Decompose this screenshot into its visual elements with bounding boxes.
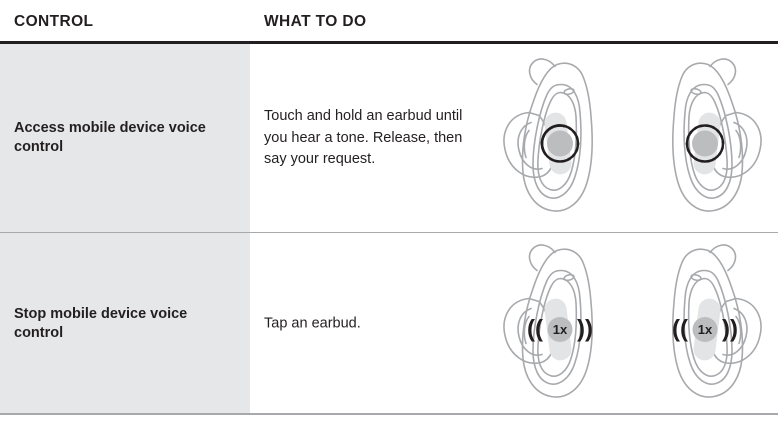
tap-count-label-left: 1x xyxy=(553,322,568,337)
earbud-left-graphic xyxy=(495,51,630,226)
what-to-do-cell: Tap an earbud. xyxy=(250,233,778,414)
table-row: Access mobile device voice control Touch… xyxy=(0,44,778,232)
tap-wave-left-icon: (( xyxy=(527,315,543,342)
control-label: Stop mobile device voice control xyxy=(14,305,238,343)
earbud-right-graphic: 1x (( )) xyxy=(635,236,770,411)
tap-wave-right-icon: )) xyxy=(577,315,593,342)
instruction-text: Tap an earbud. xyxy=(264,313,474,335)
instruction-text: Touch and hold an earbud until you hear … xyxy=(264,106,474,171)
earbuds-illustration-touch-hold xyxy=(495,51,775,226)
tap-wave-right-icon: )) xyxy=(722,315,738,342)
earbud-left-graphic: 1x (( )) xyxy=(495,236,630,411)
earbuds-illustration-tap: 1x (( )) xyxy=(495,236,775,411)
table-bottom-border xyxy=(0,413,778,415)
what-to-do-cell: Touch and hold an earbud until you hear … xyxy=(250,44,778,232)
column-header-control: CONTROL xyxy=(14,13,93,31)
control-label: Access mobile device voice control xyxy=(14,119,238,157)
tap-wave-left-icon: (( xyxy=(672,315,688,342)
control-cell: Access mobile device voice control xyxy=(0,44,250,232)
tap-count-label-right: 1x xyxy=(698,322,713,337)
column-header-what-to-do: WHAT TO DO xyxy=(264,13,366,31)
earbud-right-graphic xyxy=(635,51,770,226)
table-header-row: CONTROL WHAT TO DO xyxy=(0,0,778,43)
table-row: Stop mobile device voice control Tap an … xyxy=(0,233,778,414)
control-cell: Stop mobile device voice control xyxy=(0,233,250,414)
control-reference-table: CONTROL WHAT TO DO Access mobile device … xyxy=(0,0,778,426)
